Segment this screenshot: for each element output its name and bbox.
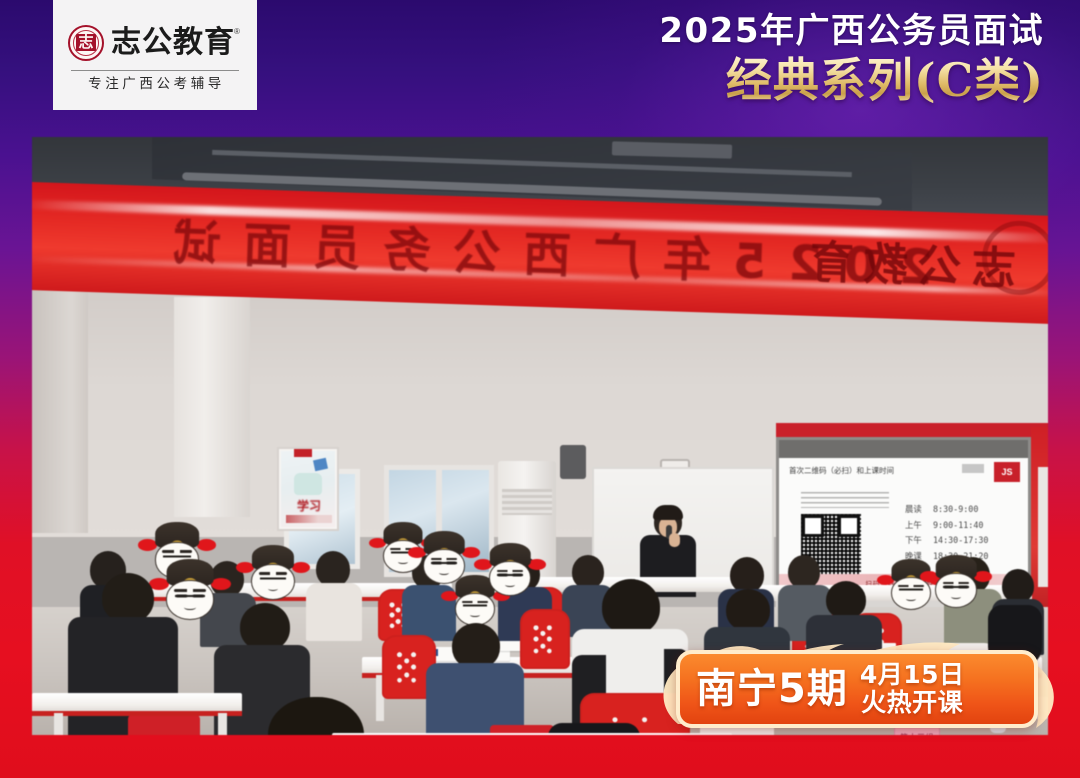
brand-name: 志公教育 xyxy=(111,28,235,58)
schedule-row: 下午14:30-17:30 xyxy=(905,533,988,549)
badge-pill: 南宁5期 4月15日 火热开课 xyxy=(676,650,1038,728)
page-subtitle: 经典系列(C类) xyxy=(659,53,1044,108)
brand-logo-row: 志 志公教育 ® xyxy=(68,25,242,61)
badge-detail: 4月15日 火热开课 xyxy=(860,661,965,717)
schedule-row: 晨读8:30-9:00 xyxy=(905,502,988,518)
bag-red xyxy=(128,715,200,735)
course-start-badge: 南宁5期 4月15日 火热开课 xyxy=(648,628,1066,744)
projector-screen-header xyxy=(779,440,1028,458)
brand-logo-card: 志 志公教育 ® 专注广西公考辅导 xyxy=(53,0,257,110)
poster-title-block: 2025年广西公务员面试 经典系列(C类) xyxy=(659,12,1044,108)
wall-pillar xyxy=(174,297,250,517)
schedule-row: 上午9:00-11:40 xyxy=(905,518,988,534)
badge-date-label: 4月15日 xyxy=(860,661,965,689)
schedule-label: 晨读 xyxy=(905,502,933,518)
face-sticker-icon xyxy=(246,545,300,601)
badge-session-label: 南宁5期 xyxy=(696,669,848,709)
registered-mark-icon: ® xyxy=(234,27,251,36)
wall-poster-text: 学习 xyxy=(284,497,334,514)
desk xyxy=(32,693,242,713)
desk-edge xyxy=(32,711,242,716)
schedule-label: 上午 xyxy=(905,518,933,534)
seal-character: 志 xyxy=(76,34,95,51)
face-sticker-icon xyxy=(886,559,936,611)
teacher-hair xyxy=(653,505,683,520)
student-foreground xyxy=(426,623,524,735)
schedule-time: 8:30-9:00 xyxy=(933,504,978,514)
wall-speaker xyxy=(560,445,586,479)
brand-slogan: 专注广西公考辅导 xyxy=(85,78,225,92)
face-sticker-icon xyxy=(930,555,982,609)
teacher-hand xyxy=(669,533,680,547)
slide-logo-secondary-icon xyxy=(962,464,984,473)
schedule-label: 下午 xyxy=(905,533,933,549)
seal-icon: 志 xyxy=(68,25,104,61)
badge-open-label: 火热开课 xyxy=(860,689,965,717)
desk-leg xyxy=(218,713,227,735)
schedule-time: 9:00-11:40 xyxy=(933,520,983,530)
face-sticker-icon xyxy=(484,543,536,597)
student xyxy=(306,551,362,639)
page-title: 2025年广西公务员面试 xyxy=(659,12,1044,51)
slide-logo-primary-icon: JS xyxy=(994,462,1020,482)
slide-logo-badge-text: JS xyxy=(994,462,1020,482)
wall-poster-accent-red xyxy=(294,449,312,457)
chair-red xyxy=(520,609,570,669)
red-wall-top xyxy=(776,423,1048,437)
air-conditioner-vent xyxy=(502,489,552,515)
slide-note-lines xyxy=(801,492,889,508)
wall-poster-graphic xyxy=(294,473,322,495)
poster-root: 志 志公教育 ® 专注广西公考辅导 2025年广西公务员面试 经典系列(C类) … xyxy=(0,0,1080,778)
desk-leg xyxy=(54,713,63,735)
schedule-time: 14:30-17:30 xyxy=(933,535,988,545)
wall-poster-footer xyxy=(286,515,332,523)
slide-title: 首次二维码（必扫）和上课时间 xyxy=(789,465,894,476)
brand-divider xyxy=(71,70,239,71)
